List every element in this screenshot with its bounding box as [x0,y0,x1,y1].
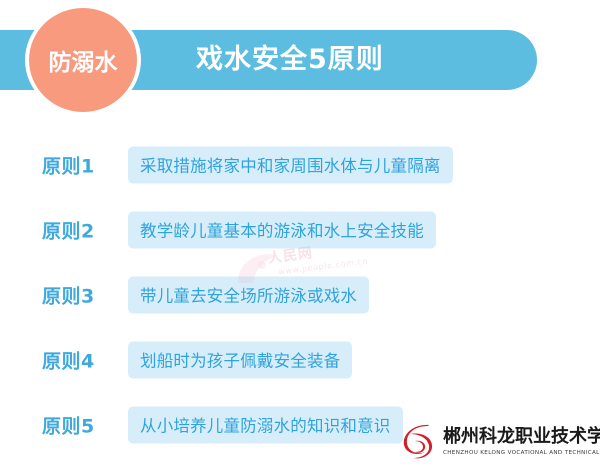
principle-row-1: 原则1 采取措施将家中和家周围水体与儿童隔离 [0,132,600,197]
principles-list: 原则1 采取措施将家中和家周围水体与儿童隔离 原则2 教学龄儿童基本的游泳和水上… [0,132,600,457]
topic-badge-label: 防溺水 [49,43,118,77]
principle-label-2: 原则2 [42,216,95,243]
principle-text-3: 带儿童去安全场所游泳或戏水 [140,283,357,307]
principle-label-4: 原则4 [42,346,95,373]
principle-label-1: 原则1 [42,151,95,178]
principle-box-4: 划船时为孩子佩戴安全装备 [128,341,352,378]
principle-label-5: 原则5 [42,411,95,438]
principle-box-3: 带儿童去安全场所游泳或戏水 [128,276,369,313]
school-name-en: CHENZHOU KELONG VOCATIONAL AND TECHNICAL… [443,449,600,458]
principle-row-2: 原则2 教学龄儿童基本的游泳和水上安全技能 [0,197,600,262]
topic-badge: 防溺水 [29,8,137,112]
principle-text-5: 从小培养儿童防溺水的知识和意识 [140,413,391,437]
school-name-cn: 郴州科龙职业技术学校 [443,427,600,447]
principle-label-3: 原则3 [42,281,95,308]
principle-row-4: 原则4 划船时为孩子佩戴安全装备 [0,327,600,392]
page-title: 戏水安全5原则 [196,30,496,90]
poster-header: 戏水安全5原则 防溺水 [0,0,600,118]
school-logo-text: 郴州科龙职业技术学校 CHENZHOU KELONG VOCATIONAL AN… [443,427,600,458]
principle-text-2: 教学龄儿童基本的游泳和水上安全技能 [140,218,424,242]
principle-text-4: 划船时为孩子佩戴安全装备 [140,348,340,372]
principle-box-1: 采取措施将家中和家周围水体与儿童隔离 [128,146,453,183]
principle-text-1: 采取措施将家中和家周围水体与儿童隔离 [140,153,441,177]
principle-box-2: 教学龄儿童基本的游泳和水上安全技能 [128,211,436,248]
poster-canvas: 戏水安全5原则 防溺水 原则1 采取措施将家中和家周围水体与儿童隔离 原则2 教… [0,0,600,469]
school-logo-mark-icon [398,421,440,463]
school-logo: 郴州科龙职业技术学校 CHENZHOU KELONG VOCATIONAL AN… [398,418,596,466]
principle-row-3: 原则3 带儿童去安全场所游泳或戏水 [0,262,600,327]
principle-box-5: 从小培养儿童防溺水的知识和意识 [128,406,403,443]
